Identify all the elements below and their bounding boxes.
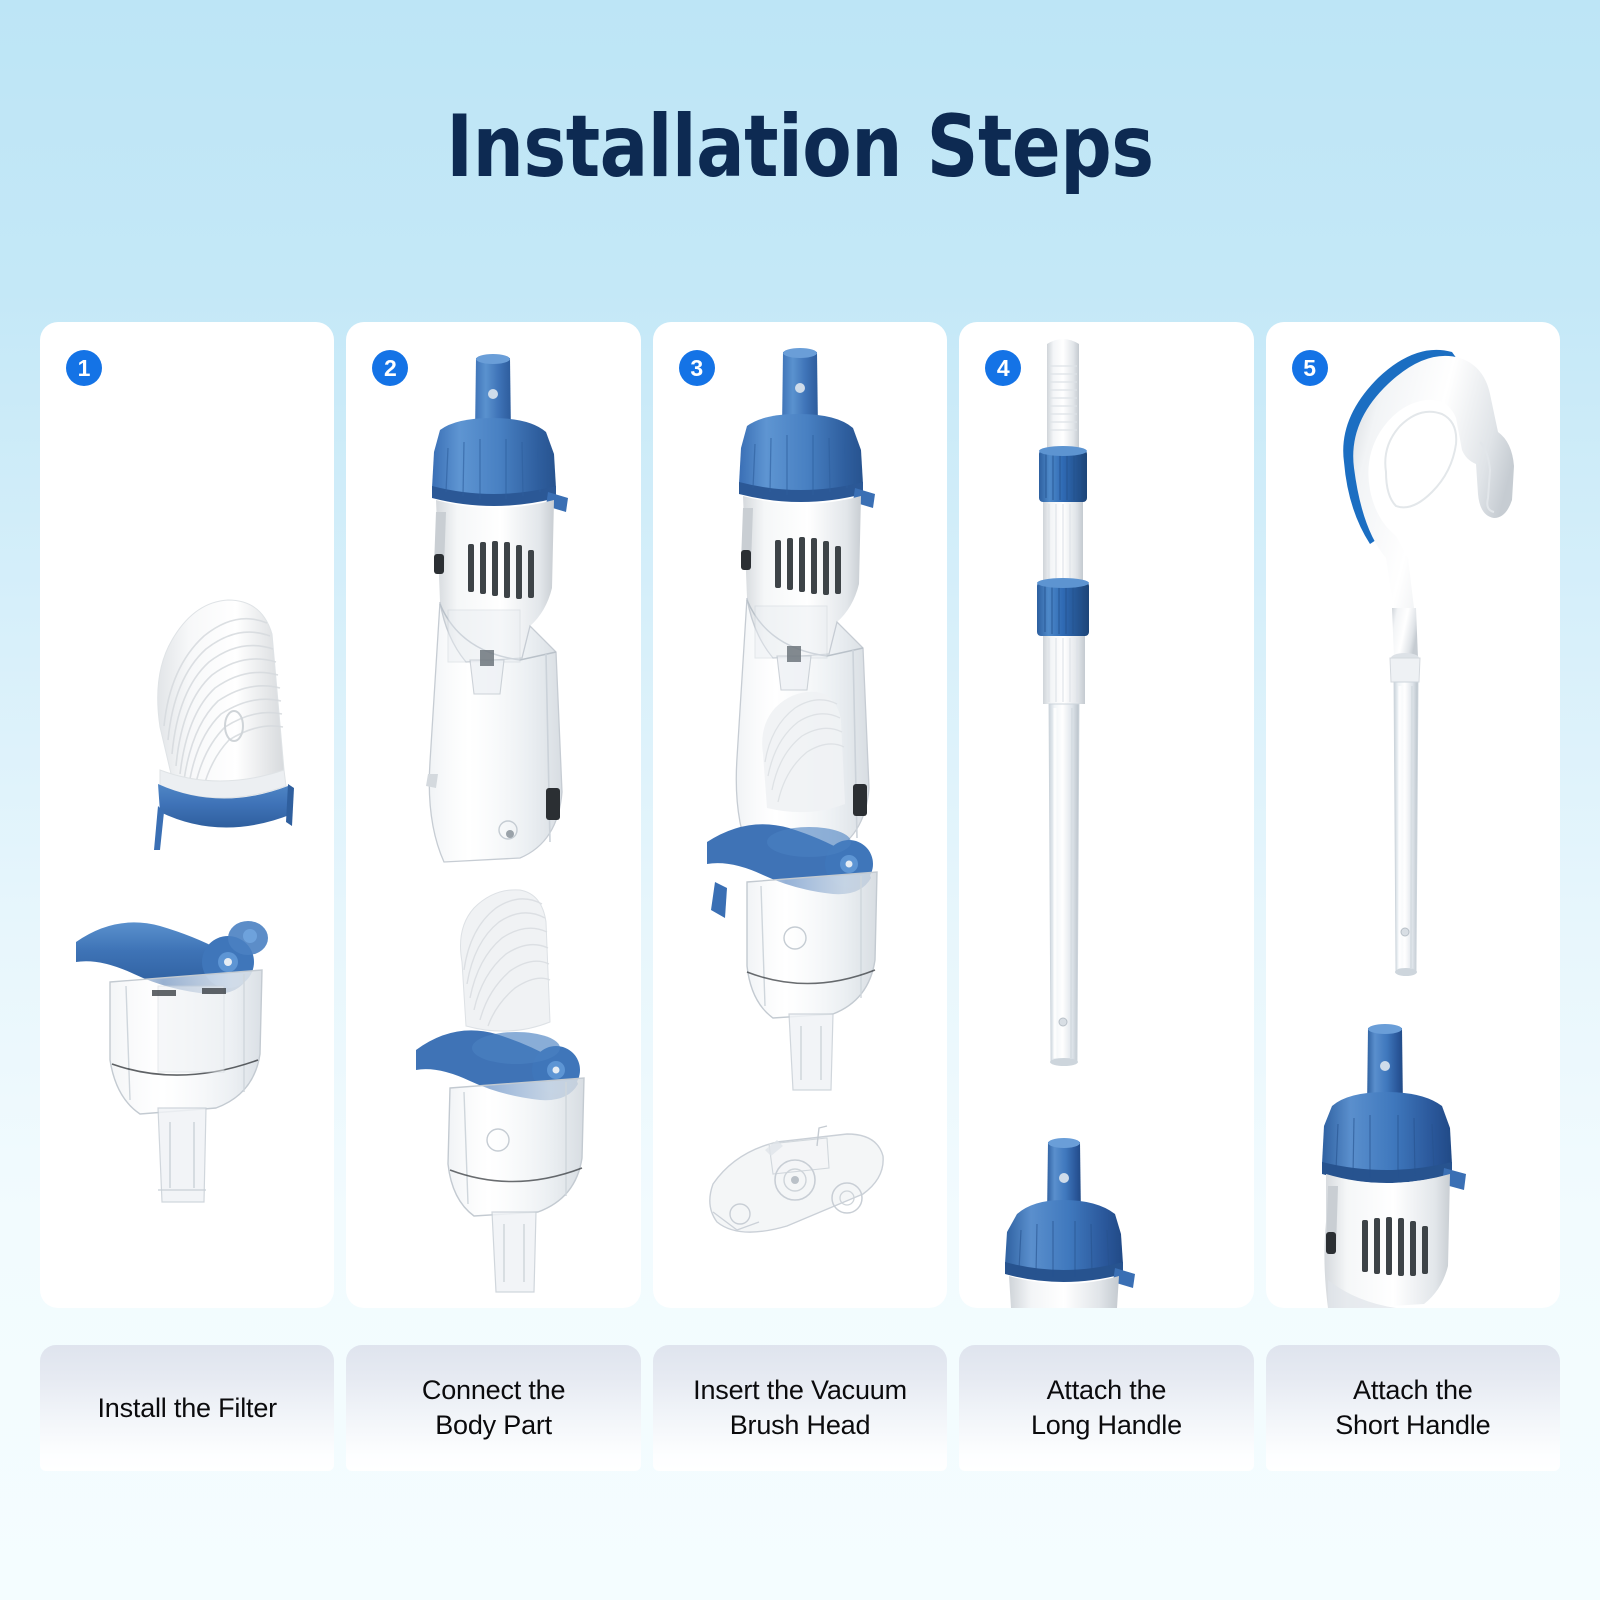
step-caption-3: Insert the Vacuum Brush Head — [653, 1345, 947, 1471]
step-illustration-4 — [959, 322, 1253, 1308]
steps-card-row: 1 — [40, 322, 1560, 1308]
page-title: Installation Steps — [56, 104, 1544, 190]
step-caption-1: Install the Filter — [40, 1345, 334, 1471]
step-number-badge-4: 4 — [985, 350, 1021, 386]
step-number-badge-5: 5 — [1292, 350, 1328, 386]
steps-caption-row: Install the Filter Connect the Body Part… — [40, 1345, 1560, 1471]
step-illustration-2 — [346, 322, 640, 1308]
step-caption-4: Attach the Long Handle — [959, 1345, 1253, 1471]
step-card-5[interactable]: 5 — [1266, 322, 1560, 1308]
step-illustration-3 — [653, 322, 947, 1308]
step-number-badge-1: 1 — [66, 350, 102, 386]
step-illustration-5 — [1266, 322, 1560, 1308]
step-illustration-1 — [40, 322, 334, 1308]
step-card-4[interactable]: 4 — [959, 322, 1253, 1308]
step-number-badge-3: 3 — [679, 350, 715, 386]
step-caption-2: Connect the Body Part — [346, 1345, 640, 1471]
step-card-3[interactable]: 3 — [653, 322, 947, 1308]
step-caption-5: Attach the Short Handle — [1266, 1345, 1560, 1471]
step-card-1[interactable]: 1 — [40, 322, 334, 1308]
step-card-2[interactable]: 2 — [346, 322, 640, 1308]
